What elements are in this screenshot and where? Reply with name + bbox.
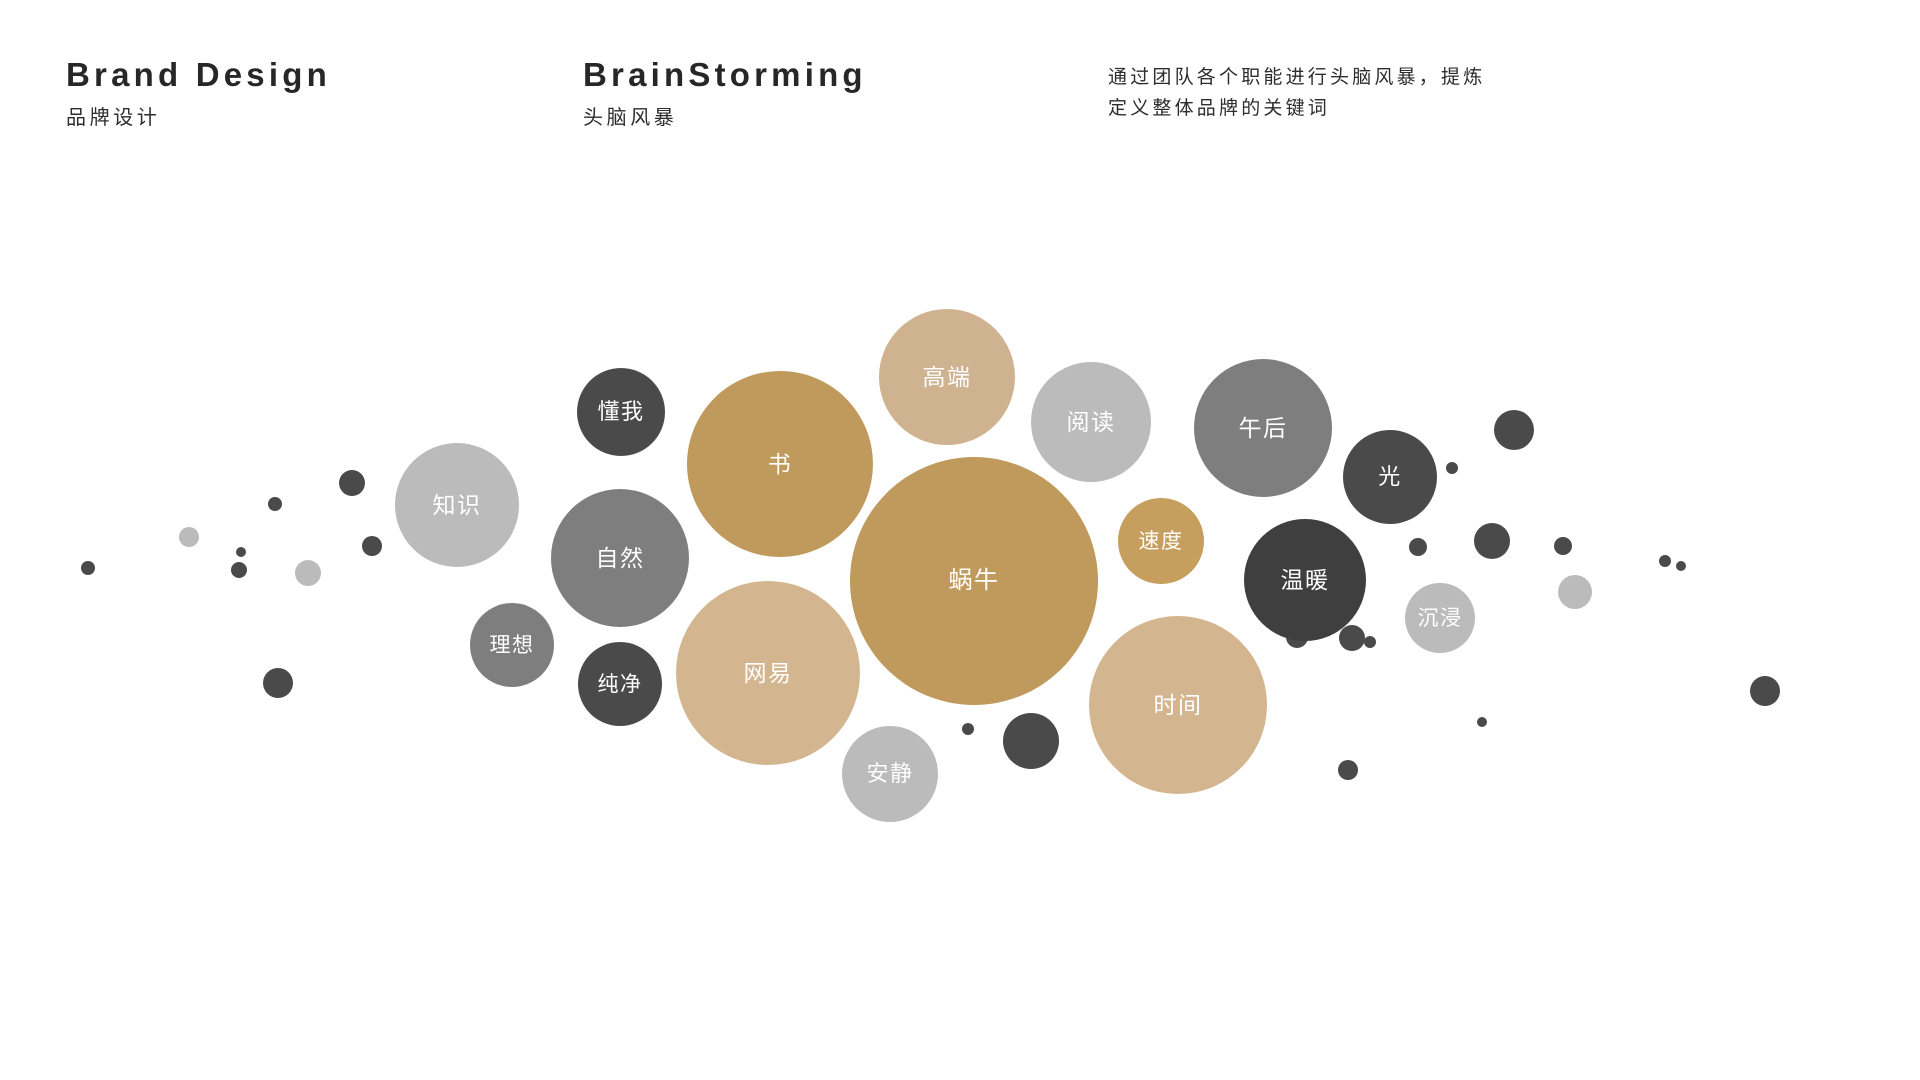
keyword-bubble-label: 知识 [433,494,482,517]
decorative-dot [1003,713,1059,769]
keyword-bubble[interactable]: 光 [1343,430,1437,524]
keyword-bubble-label: 阅读 [1067,411,1116,434]
keyword-bubble[interactable]: 高端 [879,309,1015,445]
decorative-dot [231,562,247,578]
keyword-bubble-label: 安静 [866,763,913,785]
keyword-bubble-label: 光 [1378,466,1402,488]
keyword-bubble[interactable]: 理想 [470,603,554,687]
keyword-bubble-label: 速度 [1139,531,1184,552]
decorative-dot [1659,555,1671,567]
keyword-bubble[interactable]: 速度 [1118,498,1204,584]
keyword-bubble-label: 网易 [744,662,793,685]
keyword-bubble-label: 书 [768,453,793,476]
keyword-bubble-label: 纯净 [598,674,643,695]
keyword-bubble[interactable]: 纯净 [578,642,662,726]
keyword-bubble[interactable]: 安静 [842,726,938,822]
decorative-dot [179,527,199,547]
keyword-bubble[interactable]: 网易 [676,581,860,765]
decorative-dot [1750,676,1780,706]
decorative-dot [268,497,282,511]
decorative-dot [1474,523,1510,559]
keyword-bubble[interactable]: 时间 [1089,616,1267,794]
decorative-dot [1364,636,1376,648]
decorative-dot [362,536,382,556]
keyword-bubble-label: 温暖 [1281,569,1330,592]
keyword-bubble[interactable]: 蜗牛 [850,457,1098,705]
decorative-dot [236,547,246,557]
decorative-dot [295,560,321,586]
decorative-dot [339,470,365,496]
keyword-bubble-label: 理想 [490,635,535,656]
decorative-dot [1446,462,1458,474]
decorative-dot [1558,575,1592,609]
keyword-bubble-cloud: 高端懂我书阅读午后光知识自然蜗牛速度温暖沉浸理想纯净网易时间安静 [0,0,1920,1080]
decorative-dot [1554,537,1572,555]
decorative-dot [1338,760,1358,780]
decorative-dot [1676,561,1686,571]
keyword-bubble[interactable]: 午后 [1194,359,1332,497]
keyword-bubble[interactable]: 沉浸 [1405,583,1475,653]
keyword-bubble-label: 午后 [1239,417,1288,440]
keyword-bubble-label: 自然 [596,547,645,570]
keyword-bubble[interactable]: 知识 [395,443,519,567]
keyword-bubble[interactable]: 懂我 [577,368,665,456]
decorative-dot [1339,625,1365,651]
keyword-bubble-label: 高端 [923,366,972,389]
decorative-dot [263,668,293,698]
keyword-bubble-label: 时间 [1154,694,1203,717]
decorative-dot [962,723,974,735]
decorative-dot [81,561,95,575]
keyword-bubble[interactable]: 阅读 [1031,362,1151,482]
keyword-bubble-label: 懂我 [597,401,644,423]
decorative-dot [1494,410,1534,450]
decorative-dot [1477,717,1487,727]
keyword-bubble[interactable]: 书 [687,371,873,557]
keyword-bubble[interactable]: 自然 [551,489,689,627]
keyword-bubble-label: 蜗牛 [949,569,1000,593]
keyword-bubble[interactable]: 温暖 [1244,519,1366,641]
decorative-dot [1409,538,1427,556]
keyword-bubble-label: 沉浸 [1418,608,1463,629]
